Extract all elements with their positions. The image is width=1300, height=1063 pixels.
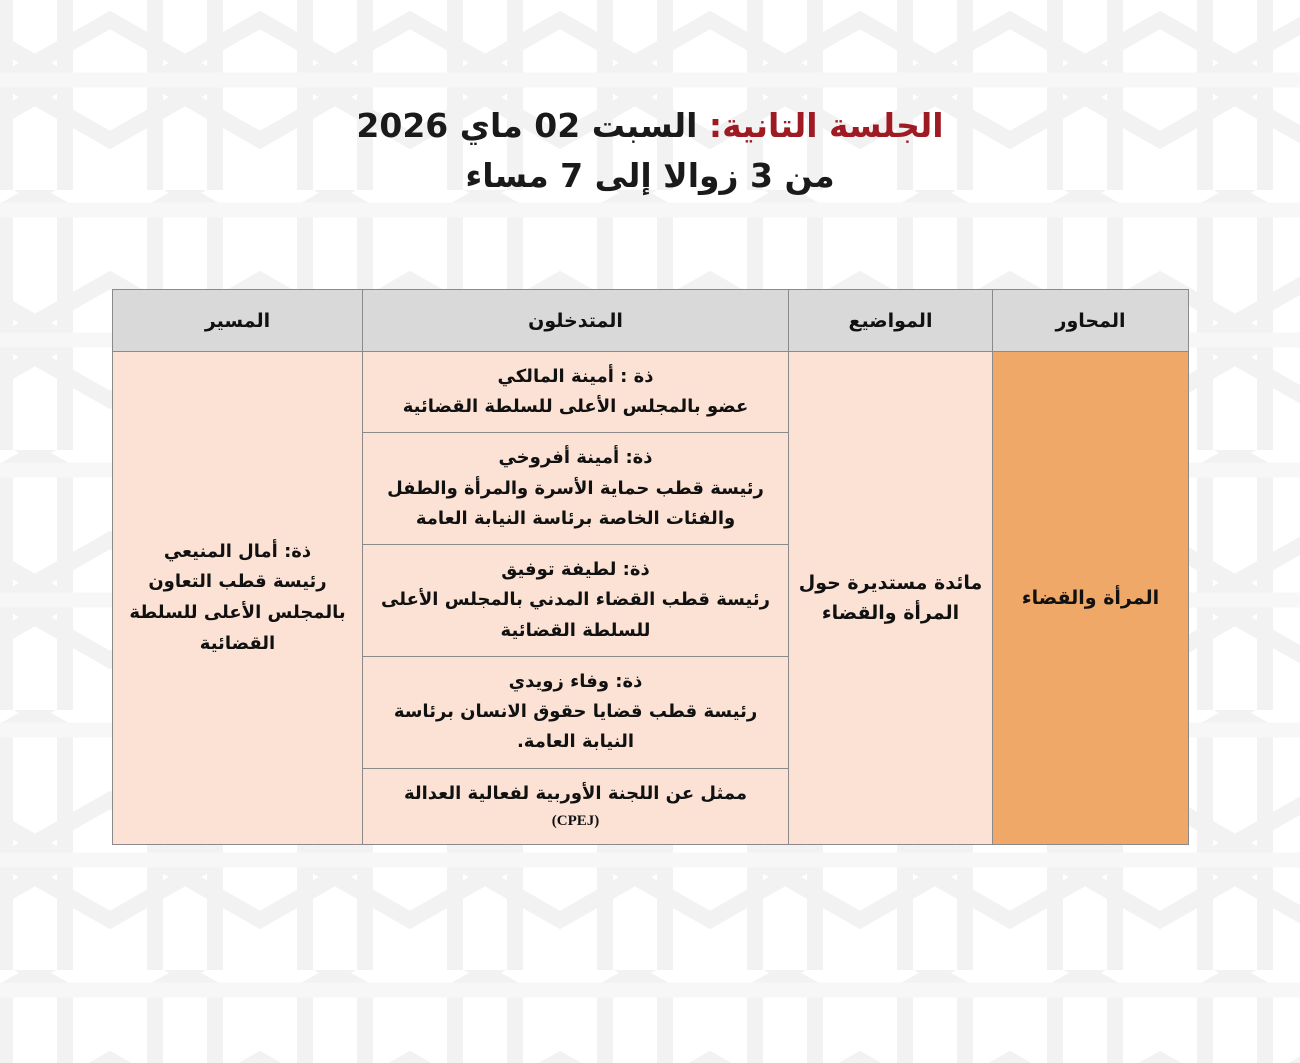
speaker-4-name: ذة: وفاء زويدي [373, 667, 778, 697]
speaker-entry-4: ذة: وفاء زويدي رئيسة قطب قضايا حقوق الان… [363, 656, 788, 768]
speaker-2-name: ذة: أمينة أفروخي [373, 443, 778, 473]
list-item: ذة: لطيفة توفيق رئيسة قطب القضاء المدني … [363, 545, 788, 657]
moderator-role-line-2: بالمجلس الأعلى للسلطة [121, 598, 354, 629]
page-root: الجلسة التانية: السبت 02 ماي 2026 من 3 ز… [0, 0, 1300, 1063]
speaker-4-role-line-1: رئيسة قطب قضايا حقوق الانسان برئاسة [373, 697, 778, 727]
column-header-axis: المحاور [993, 290, 1189, 352]
cell-axis: المرأة والقضاء [993, 352, 1189, 845]
page-title: الجلسة التانية: السبت 02 ماي 2026 من 3 ز… [0, 104, 1300, 198]
speaker-5-name: ممثل عن اللجنة الأوربية لفعالية العدالة [373, 779, 778, 809]
speaker-1-role-line-1: عضو بالمجلس الأعلى للسلطة القضائية [373, 392, 778, 422]
column-header-moderator: المسير [113, 290, 363, 352]
cell-moderator: ذة: أمال المنيعي رئيسة قطب التعاون بالمج… [113, 352, 363, 845]
speaker-4-role-line-2: النيابة العامة. [373, 727, 778, 757]
topics-text: مائدة مستديرة حول المرأة والقضاء [797, 568, 984, 629]
table-row: المرأة والقضاء مائدة مستديرة حول المرأة … [113, 352, 1189, 845]
agenda-table: المحاور المواضيع المتدخلون المسير المرأة… [112, 289, 1189, 845]
table-body: المرأة والقضاء مائدة مستديرة حول المرأة … [113, 352, 1189, 845]
column-header-speakers: المتدخلون [363, 290, 789, 352]
speaker-3-name: ذة: لطيفة توفيق [373, 555, 778, 585]
list-item: ذة : أمينة المالكي عضو بالمجلس الأعلى لل… [363, 352, 788, 433]
moderator-role-line-1: رئيسة قطب التعاون [121, 567, 354, 598]
title-date-text: السبت 02 ماي 2026 [356, 106, 709, 145]
list-item: ذة: أمينة أفروخي رئيسة قطب حماية الأسرة … [363, 433, 788, 545]
moderator-name: ذة: أمال المنيعي [121, 537, 354, 568]
speaker-entry-3: ذة: لطيفة توفيق رئيسة قطب القضاء المدني … [363, 545, 788, 657]
title-line-2: من 3 زوالا إلى 7 مساء [0, 154, 1300, 198]
title-accent-text: الجلسة التانية: [709, 106, 944, 145]
topics-line-2: المرأة والقضاء [797, 598, 984, 628]
topics-line-1: مائدة مستديرة حول [797, 568, 984, 598]
cell-speakers: ذة : أمينة المالكي عضو بالمجلس الأعلى لل… [363, 352, 789, 845]
speaker-entry-2: ذة: أمينة أفروخي رئيسة قطب حماية الأسرة … [363, 433, 788, 545]
list-item: ممثل عن اللجنة الأوربية لفعالية العدالة … [363, 768, 788, 844]
speaker-3-role-line-2: للسلطة القضائية [373, 616, 778, 646]
title-line-1: الجلسة التانية: السبت 02 ماي 2026 [0, 104, 1300, 148]
table-header-row: المحاور المواضيع المتدخلون المسير [113, 290, 1189, 352]
cell-topics: مائدة مستديرة حول المرأة والقضاء [789, 352, 993, 845]
speaker-1-name: ذة : أمينة المالكي [373, 362, 778, 392]
speaker-2-role-line-1: رئيسة قطب حماية الأسرة والمرأة والطفل [373, 474, 778, 504]
moderator-role-line-3: القضائية [121, 629, 354, 660]
moderator-text: ذة: أمال المنيعي رئيسة قطب التعاون بالمج… [121, 537, 354, 659]
table-header: المحاور المواضيع المتدخلون المسير [113, 290, 1189, 352]
speaker-5-acronym: (CPEJ) [373, 809, 778, 834]
speakers-list: ذة : أمينة المالكي عضو بالمجلس الأعلى لل… [363, 352, 788, 844]
speaker-2-role-line-2: والفئات الخاصة برئاسة النيابة العامة [373, 504, 778, 534]
speaker-3-role-line-1: رئيسة قطب القضاء المدني بالمجلس الأعلى [373, 585, 778, 615]
column-header-topics: المواضيع [789, 290, 993, 352]
speaker-entry-5: ممثل عن اللجنة الأوربية لفعالية العدالة … [363, 768, 788, 844]
speaker-entry-1: ذة : أمينة المالكي عضو بالمجلس الأعلى لل… [363, 352, 788, 433]
list-item: ذة: وفاء زويدي رئيسة قطب قضايا حقوق الان… [363, 656, 788, 768]
